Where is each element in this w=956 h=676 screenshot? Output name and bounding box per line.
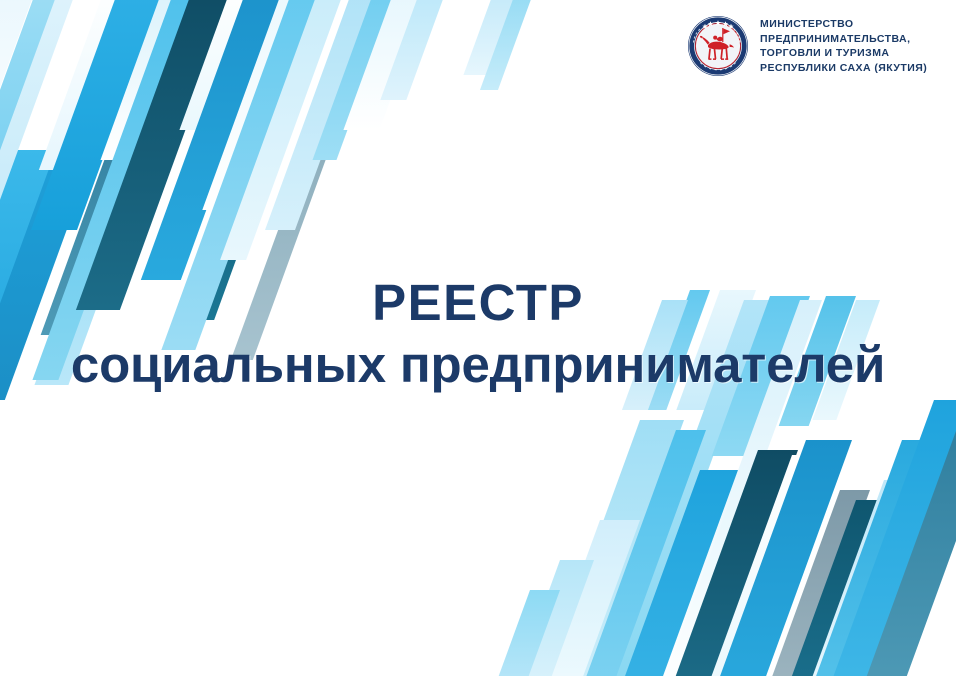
stripe <box>534 520 640 676</box>
ministry-line-4: РЕСПУБЛИКИ САХА (ЯКУТИЯ) <box>760 61 927 76</box>
stripe <box>790 500 890 676</box>
stripe <box>581 430 706 676</box>
stripe <box>141 0 290 280</box>
stripe <box>705 455 814 676</box>
stripe <box>220 0 348 260</box>
stripe <box>542 420 684 676</box>
title-line-1: РЕЕСТР <box>0 272 956 334</box>
yakutia-coat-of-arms-emblem <box>686 14 750 78</box>
stripe <box>828 400 956 676</box>
stripe <box>0 0 39 180</box>
page-title: РЕЕСТР социальных предпринимателей <box>0 272 956 396</box>
stripe <box>463 0 526 75</box>
stripe <box>811 440 942 676</box>
stripe <box>380 0 450 100</box>
stripe <box>620 470 738 676</box>
stripe <box>711 440 852 676</box>
stripe <box>480 0 538 90</box>
stripe <box>490 590 560 676</box>
stripe <box>265 0 386 230</box>
ministry-line-3: ТОРГОВЛИ И ТУРИЗМА <box>760 46 927 61</box>
stripe <box>862 420 956 676</box>
stripe <box>39 0 130 170</box>
stripe <box>179 0 260 130</box>
ministry-line-2: ПРЕДПРИНИМАТЕЛЬСТВА, <box>760 32 927 47</box>
stripe <box>31 0 168 230</box>
stripe <box>661 500 756 676</box>
stripe <box>343 0 434 130</box>
stripe <box>509 560 594 676</box>
stripe <box>671 450 798 676</box>
stripe <box>767 490 870 676</box>
stripe <box>76 0 240 310</box>
slide-canvas: РЕЕСТР социальных предпринимателей <box>0 0 956 676</box>
stripe <box>312 0 402 160</box>
stripe <box>811 480 912 676</box>
ministry-logo-text: МИНИСТЕРСТВО ПРЕДПРИНИМАТЕЛЬСТВА, ТОРГОВ… <box>760 17 927 75</box>
stripe <box>202 0 304 210</box>
title-line-2: социальных предпринимателей <box>0 334 956 396</box>
ministry-logo: МИНИСТЕРСТВО ПРЕДПРИНИМАТЕЛЬСТВА, ТОРГОВ… <box>686 14 927 78</box>
stripe <box>0 0 70 240</box>
stripe <box>100 0 186 160</box>
ministry-line-1: МИНИСТЕРСТВО <box>760 17 927 32</box>
